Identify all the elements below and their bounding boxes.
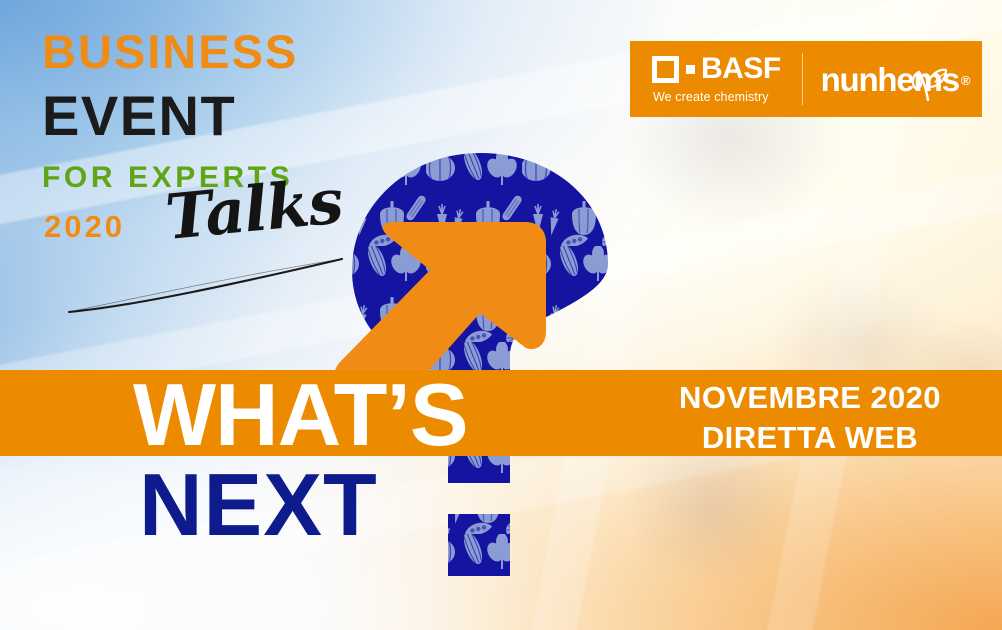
- event-logo-script: Talks: [163, 170, 345, 249]
- event-logo-line-event: EVENT: [42, 88, 342, 144]
- headline-line-next: NEXT: [139, 461, 378, 549]
- headline-line-whats: WHAT’S: [133, 371, 468, 459]
- nunhems-trademark-symbol: ®: [961, 73, 971, 88]
- event-logo: BUSINESS EVENT FOR EXPERTS 2020 Talks: [42, 28, 342, 267]
- nunhems-logo[interactable]: nunhems ®: [803, 63, 982, 96]
- basf-logo[interactable]: BASF We create chemistry: [630, 54, 802, 104]
- promo-banner: BUSINESS EVENT FOR EXPERTS 2020 Talks BA…: [0, 0, 1002, 630]
- event-logo-year: 2020: [44, 211, 125, 242]
- basf-dot-icon: [686, 65, 695, 74]
- swoosh-underline-icon: [64, 257, 354, 317]
- basf-tagline: We create chemistry: [652, 90, 802, 104]
- basf-square-icon: [652, 56, 679, 83]
- event-logo-line-business: BUSINESS: [42, 28, 342, 75]
- basf-logo-row: BASF: [652, 54, 802, 84]
- date-line-month: NOVEMBRE 2020: [640, 378, 980, 418]
- date-line-format: DIRETTA WEB: [640, 418, 980, 458]
- basf-wordmark: BASF: [701, 54, 781, 84]
- brand-bar: BASF We create chemistry nunhems ®: [630, 41, 982, 117]
- date-block: NOVEMBRE 2020 DIRETTA WEB: [640, 378, 980, 457]
- event-logo-year-row: 2020 Talks: [42, 205, 342, 267]
- nunhems-sprout-leaf-icon: [908, 67, 948, 101]
